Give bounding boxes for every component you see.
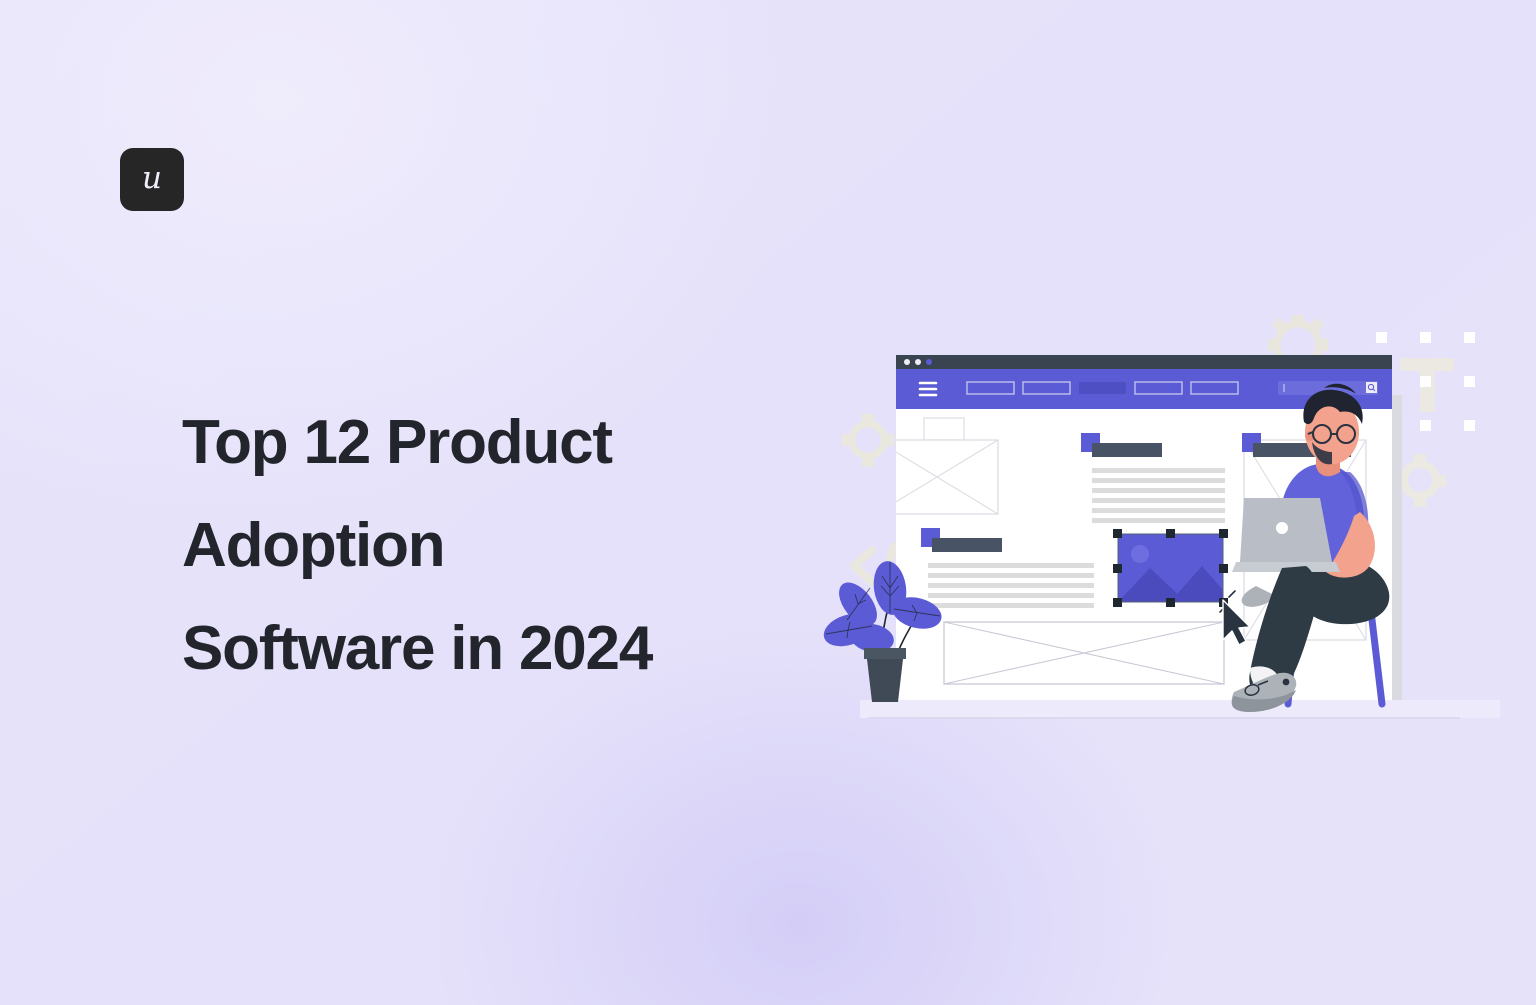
plant-pot-rim [864, 648, 906, 659]
selected-image-sun [1131, 545, 1149, 563]
image-placeholder-bottom[interactable] [944, 622, 1224, 684]
page-title-line-2: Adoption [182, 511, 444, 580]
titlebar-dot-minimize[interactable] [915, 359, 921, 365]
text-block-left-heading [932, 538, 1002, 552]
laptop-logo [1276, 522, 1288, 534]
userpilot-logo[interactable]: u [120, 148, 184, 211]
text-block-center-heading [1092, 443, 1162, 457]
plant-pot-body [867, 659, 903, 702]
floor-band [860, 700, 1500, 718]
image-placeholder-top-left[interactable] [876, 440, 998, 514]
browser-titlebar [896, 355, 1392, 369]
page-title-line-3: Software in 2024 [182, 614, 652, 683]
search-icon[interactable] [1366, 382, 1377, 393]
page-title: Top 12 Product Adoption Software in 2024 [182, 392, 802, 701]
titlebar-dot-maximize[interactable] [926, 359, 932, 365]
logo-glyph: u [142, 163, 162, 194]
gear-icon-left-teeth [842, 414, 894, 467]
selected-image[interactable] [1113, 529, 1228, 607]
gear-icon-right [1404, 464, 1436, 496]
gear-icon-left [852, 424, 884, 456]
web-design-illustration [820, 300, 1500, 740]
page-title-line-1: Top 12 Product [182, 408, 612, 477]
nav-item-3-active[interactable] [1079, 382, 1126, 394]
titlebar-dot-close[interactable] [904, 359, 910, 365]
